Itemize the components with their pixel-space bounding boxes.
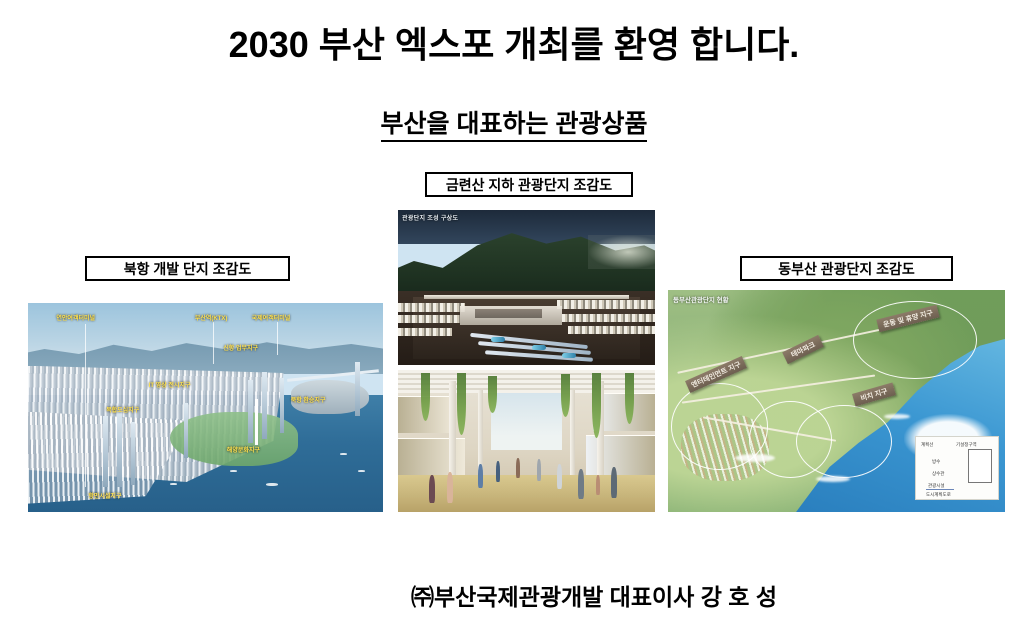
leader-line-2 <box>213 322 214 364</box>
retail-deck-right-3 <box>568 326 655 334</box>
map-legend-box: 계획선 기설정구역 방수 상수관 관광시설 도시계획도로 <box>915 436 999 500</box>
retail-deck-right-1 <box>557 300 655 309</box>
tower-5 <box>248 380 253 443</box>
tower-2 <box>117 408 122 487</box>
map-label-business-zone: 신항 업무지구 <box>223 343 258 352</box>
map-label-intl-terminal: 국제여객터미널 <box>252 313 291 322</box>
visitor-5 <box>516 458 520 478</box>
column-left-1 <box>449 381 456 483</box>
retail-deck-left-1 <box>398 303 465 312</box>
tower-1 <box>103 416 108 487</box>
map-label-port-facility: 항만시설지구 <box>88 491 121 500</box>
hanging-plant-3 <box>488 376 497 413</box>
map-label-marine-culture: 해양문화지구 <box>227 445 260 454</box>
map-label-downtown-zone: 복합도심지구 <box>106 405 139 414</box>
waterfront-park <box>170 412 298 466</box>
legend-line-sample <box>926 489 954 490</box>
caption-left-image: 북항 개발 단지 조감도 <box>85 256 290 281</box>
overlay-title-east-busan: 동부산관광단지 현황 <box>673 294 729 304</box>
tower-4 <box>184 403 188 457</box>
visitor-8 <box>578 469 584 499</box>
visitor-7 <box>557 464 562 490</box>
visitor-4 <box>496 461 500 482</box>
caption-right-image: 동부산 관광단지 조감도 <box>740 256 953 281</box>
page-title: 2030 부산 엑스포 개최를 환영 합니다. <box>0 16 1028 68</box>
leader-line-3 <box>277 322 278 355</box>
map-label-transfer-zone: 북항 환승지구 <box>291 395 326 404</box>
landmark-spire <box>255 399 258 445</box>
hanging-plant-5 <box>592 373 601 438</box>
train-3 <box>562 353 576 358</box>
ceiling-beams <box>398 370 655 393</box>
visitor-6 <box>537 459 541 480</box>
presentation-slide: 2030 부산 엑스포 개최를 환영 합니다. 부산을 대표하는 관광상품 북항… <box>0 0 1028 632</box>
image-bukhang-aerial: 연안여객터미널 부산역(KTX) 국제여객터미널 신항 업무지구 IT 영상 전… <box>28 303 383 512</box>
roof-slab <box>424 295 630 299</box>
visitor-9 <box>596 475 600 495</box>
image-geumryeonsan-section: 관광단지 조성 구상도 <box>398 210 655 365</box>
presenter-credit: ㈜부산국제관광개발 대표이사 강 호 성 <box>0 578 1028 612</box>
city-lights <box>588 235 655 269</box>
leader-line-1 <box>85 324 86 487</box>
subtitle-underlined-text: 부산을 대표하는 관광상품 <box>381 110 648 142</box>
visitor-3 <box>478 464 483 488</box>
retail-deck-left-3 <box>398 328 452 336</box>
tower-3 <box>131 422 135 485</box>
caption-middle-image: 금련산 지하 관광단지 조감도 <box>425 172 633 197</box>
atrium-void <box>475 309 542 318</box>
map-label-ferry-terminal: 연안여객터미널 <box>56 313 95 322</box>
column-right-2 <box>570 390 575 478</box>
legend-label-item-1: 방수 <box>932 459 940 465</box>
visitor-10 <box>611 467 617 498</box>
legend-swatch-box <box>968 449 992 483</box>
visitor-1 <box>429 475 435 503</box>
tower-8 <box>355 362 360 416</box>
image-mall-atrium <box>398 370 655 512</box>
legend-label-plan-line: 계획선 <box>921 442 933 448</box>
legend-label-item-4: 도시계획도로 <box>926 492 951 498</box>
train-1 <box>491 337 505 342</box>
section-subtitle: 부산을 대표하는 관광상품 <box>0 104 1028 140</box>
image-east-busan-complex: 엔터테인먼트 지구 테마파크 운동 및 휴양 지구 비치 지구 동부산관광단지 … <box>668 290 1005 512</box>
train-2 <box>532 345 546 350</box>
legend-label-existing: 기설정구역 <box>956 442 977 448</box>
map-label-it-zone: IT 영상 전시지구 <box>149 380 191 389</box>
retail-deck-left-2 <box>398 315 460 323</box>
boat-2 <box>266 483 278 486</box>
overlay-title-geumryeonsan: 관광단지 조성 구상도 <box>402 213 458 222</box>
retail-deck-right-2 <box>562 314 655 322</box>
visitor-2 <box>447 472 453 503</box>
legend-label-item-2: 상수관 <box>932 471 944 477</box>
map-label-busan-station: 부산역(KTX) <box>195 313 228 322</box>
tower-6 <box>262 372 267 439</box>
tower-7 <box>280 378 284 432</box>
boat-5 <box>170 483 177 485</box>
